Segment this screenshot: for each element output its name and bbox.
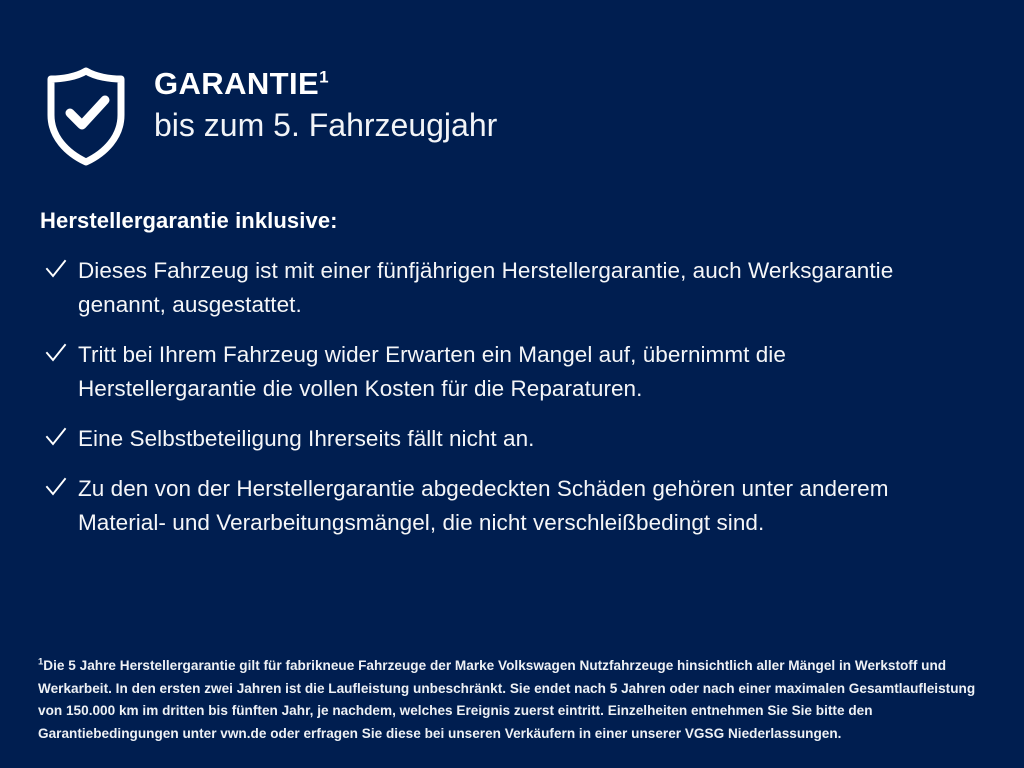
content-block: Herstellergarantie inklusive: Dieses Fah… <box>40 208 945 540</box>
list-item-label: Tritt bei Ihrem Fahrzeug wider Erwarten … <box>78 338 945 406</box>
page-title-footnote-marker: 1 <box>319 68 328 87</box>
list-item: Tritt bei Ihrem Fahrzeug wider Erwarten … <box>40 338 945 406</box>
header-text: GARANTIE1 bis zum 5. Fahrzeugjahr <box>154 58 497 143</box>
header: GARANTIE1 bis zum 5. Fahrzeugjahr <box>40 58 497 166</box>
footnote-text: Die 5 Jahre Herstellergarantie gilt für … <box>38 658 975 741</box>
footnote: 1Die 5 Jahre Herstellergarantie gilt für… <box>38 655 986 745</box>
page-subtitle: bis zum 5. Fahrzeugjahr <box>154 108 497 144</box>
list-item: Eine Selbstbeteiligung Ihrerseits fällt … <box>40 422 945 456</box>
check-icon <box>44 341 78 371</box>
check-icon <box>44 475 78 505</box>
section-heading: Herstellergarantie inklusive: <box>40 208 945 234</box>
page-title: GARANTIE1 <box>154 68 497 101</box>
list-item-label: Dieses Fahrzeug ist mit einer fünfjährig… <box>78 254 945 322</box>
check-icon <box>44 257 78 287</box>
list-item: Zu den von der Herstellergarantie abgede… <box>40 472 945 540</box>
page-title-text: GARANTIE <box>154 66 319 101</box>
list-item-label: Eine Selbstbeteiligung Ihrerseits fällt … <box>78 422 534 456</box>
benefits-list: Dieses Fahrzeug ist mit einer fünfjährig… <box>40 254 945 540</box>
check-icon <box>44 425 78 455</box>
garantie-slide: GARANTIE1 bis zum 5. Fahrzeugjahr Herste… <box>0 0 1024 768</box>
shield-check-icon <box>40 66 132 166</box>
list-item: Dieses Fahrzeug ist mit einer fünfjährig… <box>40 254 945 322</box>
list-item-label: Zu den von der Herstellergarantie abgede… <box>78 472 945 540</box>
